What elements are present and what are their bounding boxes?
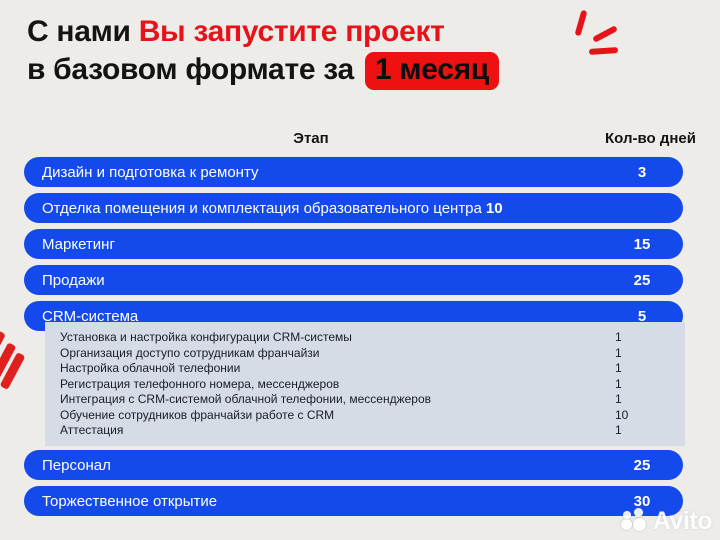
subtask-days-value: 1	[615, 392, 685, 406]
table-row[interactable]: Продажи25	[24, 265, 683, 295]
stage-row-list-bottom: Персонал25Торжественное открытие30	[24, 450, 683, 522]
stage-label: Персонал	[24, 457, 605, 474]
subtask-label: Организация доступо сотрудникам франчайз…	[45, 346, 615, 360]
list-item: Интеграция с CRM-системой облачной телеф…	[45, 392, 685, 408]
slide-canvas: С нами Вы запустите проект в базовом фор…	[0, 0, 720, 540]
crm-subtask-panel: Установка и настройка конфигурации CRM-с…	[45, 322, 685, 446]
list-item: Организация доступо сотрудникам франчайз…	[45, 346, 685, 362]
list-item: Аттестация1	[45, 423, 685, 439]
headline-badge: 1 месяц	[365, 52, 499, 90]
subtask-label: Установка и настройка конфигурации CRM-с…	[45, 330, 615, 344]
subtask-days-value: 1	[615, 346, 685, 360]
list-item: Обучение сотрудников франчайзи работе с …	[45, 408, 685, 424]
page-title: С нами Вы запустите проект в базовом фор…	[27, 13, 587, 89]
table-row[interactable]: Отделка помещения и комплектация образов…	[24, 193, 683, 223]
subtask-days-value: 1	[615, 330, 685, 344]
table-row[interactable]: Маркетинг15	[24, 229, 683, 259]
headline-prefix-1: С нами	[27, 15, 139, 48]
table-row[interactable]: Персонал25	[24, 450, 683, 480]
stage-days-value: 3	[605, 164, 683, 181]
headline-line-1: С нами Вы запустите проект	[27, 13, 587, 51]
stage-days-value: 15	[605, 236, 683, 253]
subtask-days-value: 1	[615, 423, 685, 437]
subtask-days-value: 1	[615, 361, 685, 375]
list-item: Регистрация телефонного номера, мессендж…	[45, 377, 685, 393]
subtask-label: Аттестация	[45, 423, 615, 437]
subtask-label: Обучение сотрудников франчайзи работе с …	[45, 408, 615, 422]
stage-label: Торжественное открытие	[24, 493, 605, 510]
avito-logo-icon	[621, 508, 651, 534]
spark-stroke-icon	[589, 47, 618, 55]
stage-days-value: 10	[486, 200, 683, 217]
column-header-days: Кол-во дней	[596, 130, 696, 147]
stage-label: Дизайн и подготовка к ремонту	[24, 164, 605, 181]
list-item: Настройка облачной телефонии1	[45, 361, 685, 377]
subtask-label: Интеграция с CRM-системой облачной телеф…	[45, 392, 615, 406]
stage-days-value: 25	[605, 272, 683, 289]
avito-wordmark: Avito	[653, 508, 712, 534]
headline-prefix-2: в базовом формате за	[27, 53, 362, 86]
subtask-label: Регистрация телефонного номера, мессендж…	[45, 377, 615, 391]
subtask-days-value: 10	[615, 408, 685, 422]
avito-watermark: Avito	[621, 508, 712, 534]
table-row[interactable]: Дизайн и подготовка к ремонту3	[24, 157, 683, 187]
subtask-label: Настройка облачной телефонии	[45, 361, 615, 375]
stage-row-list: Дизайн и подготовка к ремонту3Отделка по…	[24, 157, 683, 337]
table-header: Этап Кол-во дней	[24, 130, 696, 152]
table-row[interactable]: Торжественное открытие30	[24, 486, 683, 516]
spark-stroke-icon	[592, 25, 618, 43]
headline-accent: Вы запустите проект	[139, 15, 445, 48]
stage-label: Продажи	[24, 272, 605, 289]
column-header-stage: Этап	[24, 130, 598, 147]
list-item: Установка и настройка конфигурации CRM-с…	[45, 330, 685, 346]
stage-label: Маркетинг	[24, 236, 605, 253]
headline-line-2: в базовом формате за 1 месяц	[27, 51, 587, 89]
subtask-days-value: 1	[615, 377, 685, 391]
stage-days-value: 25	[605, 457, 683, 474]
stage-label: Отделка помещения и комплектация образов…	[24, 200, 486, 217]
